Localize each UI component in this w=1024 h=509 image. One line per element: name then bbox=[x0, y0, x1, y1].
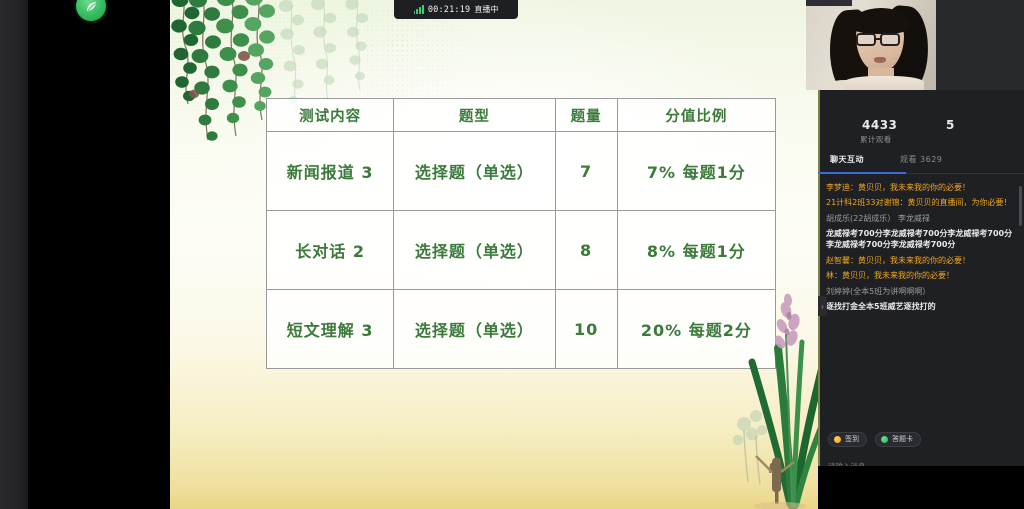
webcam-mouth bbox=[874, 57, 886, 63]
webcam-glasses-right bbox=[880, 33, 900, 46]
chat-message: 赵智馨：黄贝贝，我未来我的你的必要！ bbox=[818, 253, 1024, 268]
chat-panel: 4433 累计观看 5 聊天互动 观看 3629 李梦迪：黄贝贝，我未来我的你的… bbox=[818, 90, 1024, 466]
panel-top-right-filler bbox=[936, 0, 1024, 90]
viewer-stats: 4433 累计观看 5 bbox=[818, 118, 1024, 152]
leaf-glyph-icon bbox=[85, 0, 98, 13]
webcam-glasses-bridge bbox=[876, 38, 881, 40]
chat-message: 21计科2班33对谢锦：黄贝贝的直播间，为你必要！ bbox=[818, 195, 1024, 210]
webcam-top-bar bbox=[806, 0, 852, 6]
chat-message: 龙威禄考700分李龙威禄考700分李龙威禄考700分李龙威禄考700分李龙威禄考… bbox=[818, 226, 1024, 253]
viewers-total-caption: 累计观看 bbox=[860, 134, 892, 145]
table-header-cell: 测试内容 bbox=[267, 99, 394, 132]
live-class-window: 测试内容 题型 题量 分值比例 新闻报道 3 选择题（单选） 7 7% 每题1分 bbox=[0, 0, 1024, 509]
table-cell: 选择题（单选） bbox=[394, 132, 555, 211]
chat-scrollbar-thumb[interactable] bbox=[1019, 186, 1022, 226]
webcam-torso bbox=[844, 76, 924, 90]
chat-message: 胡成乐(22胡成乐） 李龙威禄 bbox=[818, 211, 1024, 226]
answer-card-label: 答题卡 bbox=[892, 434, 913, 444]
tab-chat[interactable]: 聊天互动 bbox=[830, 154, 864, 165]
table-cell: 8% 每题1分 bbox=[617, 211, 775, 290]
live-status-label: 直播中 bbox=[474, 4, 498, 15]
table-cell: 长对话 2 bbox=[267, 211, 394, 290]
check-in-button[interactable]: 签到 bbox=[828, 432, 867, 447]
tab-viewers[interactable]: 观看 3629 bbox=[900, 154, 942, 165]
table-cell: 选择题（单选） bbox=[394, 211, 555, 290]
live-status-pill: 00:21:19 直播中 bbox=[394, 0, 518, 19]
table-cell: 7 bbox=[555, 132, 617, 211]
table-cell: 10 bbox=[555, 290, 617, 369]
signal-bars-icon bbox=[414, 6, 424, 14]
table-header-cell: 分值比例 bbox=[617, 99, 775, 132]
viewers-total-value: 4433 bbox=[862, 118, 897, 132]
webcam-glasses-left bbox=[856, 33, 876, 46]
table-cell: 选择题（单选） bbox=[394, 290, 555, 369]
table-header-cell: 题型 bbox=[394, 99, 555, 132]
panel-bottom-void bbox=[818, 466, 1024, 509]
chat-message: 李梦迪：黄贝贝，我未来我的你的必要！ bbox=[818, 180, 1024, 195]
chat-collapse-arrow-icon[interactable]: › bbox=[818, 296, 827, 316]
check-in-label: 签到 bbox=[845, 434, 859, 444]
quick-action-row: 签到 答题卡 bbox=[818, 428, 1024, 450]
table-cell: 短文理解 3 bbox=[267, 290, 394, 369]
teacher-webcam-video[interactable] bbox=[806, 0, 936, 90]
table-cell: 7% 每题1分 bbox=[617, 132, 775, 211]
presentation-slide: 测试内容 题型 题量 分值比例 新闻报道 3 选择题（单选） 7 7% 每题1分 bbox=[170, 0, 846, 509]
window-left-chrome-gradient bbox=[0, 0, 28, 509]
window-left-chrome bbox=[0, 0, 28, 509]
message-compose-row bbox=[818, 456, 1024, 466]
table-header-cell: 题量 bbox=[555, 99, 617, 132]
check-in-dot-icon bbox=[834, 436, 841, 443]
chat-message: 刘婷婷(全本5班为讲啊啊啊） bbox=[818, 284, 1024, 299]
answer-card-dot-icon bbox=[881, 436, 888, 443]
table-row: 短文理解 3 选择题（单选） 10 20% 每题2分 bbox=[267, 290, 776, 369]
table-cell: 8 bbox=[555, 211, 617, 290]
message-input[interactable] bbox=[828, 462, 948, 466]
table-row: 长对话 2 选择题（单选） 8 8% 每题1分 bbox=[267, 211, 776, 290]
live-timer: 00:21:19 bbox=[428, 5, 471, 15]
chat-message: 逐找打金全本5班威艺逐找打的 bbox=[818, 299, 1024, 314]
tab-track bbox=[906, 173, 1024, 174]
test-structure-table: 测试内容 题型 题量 分值比例 新闻报道 3 选择题（单选） 7 7% 每题1分 bbox=[266, 98, 776, 369]
slide-table-wrapper: 测试内容 题型 题量 分值比例 新闻报道 3 选择题（单选） 7 7% 每题1分 bbox=[266, 98, 776, 369]
secondary-stat-value: 5 bbox=[946, 118, 954, 132]
chat-panel-tabs: 聊天互动 观看 3629 bbox=[818, 154, 1024, 176]
table-cell: 新闻报道 3 bbox=[267, 132, 394, 211]
table-header-row: 测试内容 题型 题量 分值比例 bbox=[267, 99, 776, 132]
chat-message-list[interactable]: 李梦迪：黄贝贝，我未来我的你的必要！ 21计科2班33对谢锦：黄贝贝的直播间，为… bbox=[818, 180, 1024, 410]
table-row: 新闻报道 3 选择题（单选） 7 7% 每题1分 bbox=[267, 132, 776, 211]
tab-active-underline bbox=[818, 172, 906, 174]
chat-message: 林：黄贝贝，我未来我的你的必要！ bbox=[818, 268, 1024, 283]
answer-card-button[interactable]: 答题卡 bbox=[875, 432, 921, 447]
